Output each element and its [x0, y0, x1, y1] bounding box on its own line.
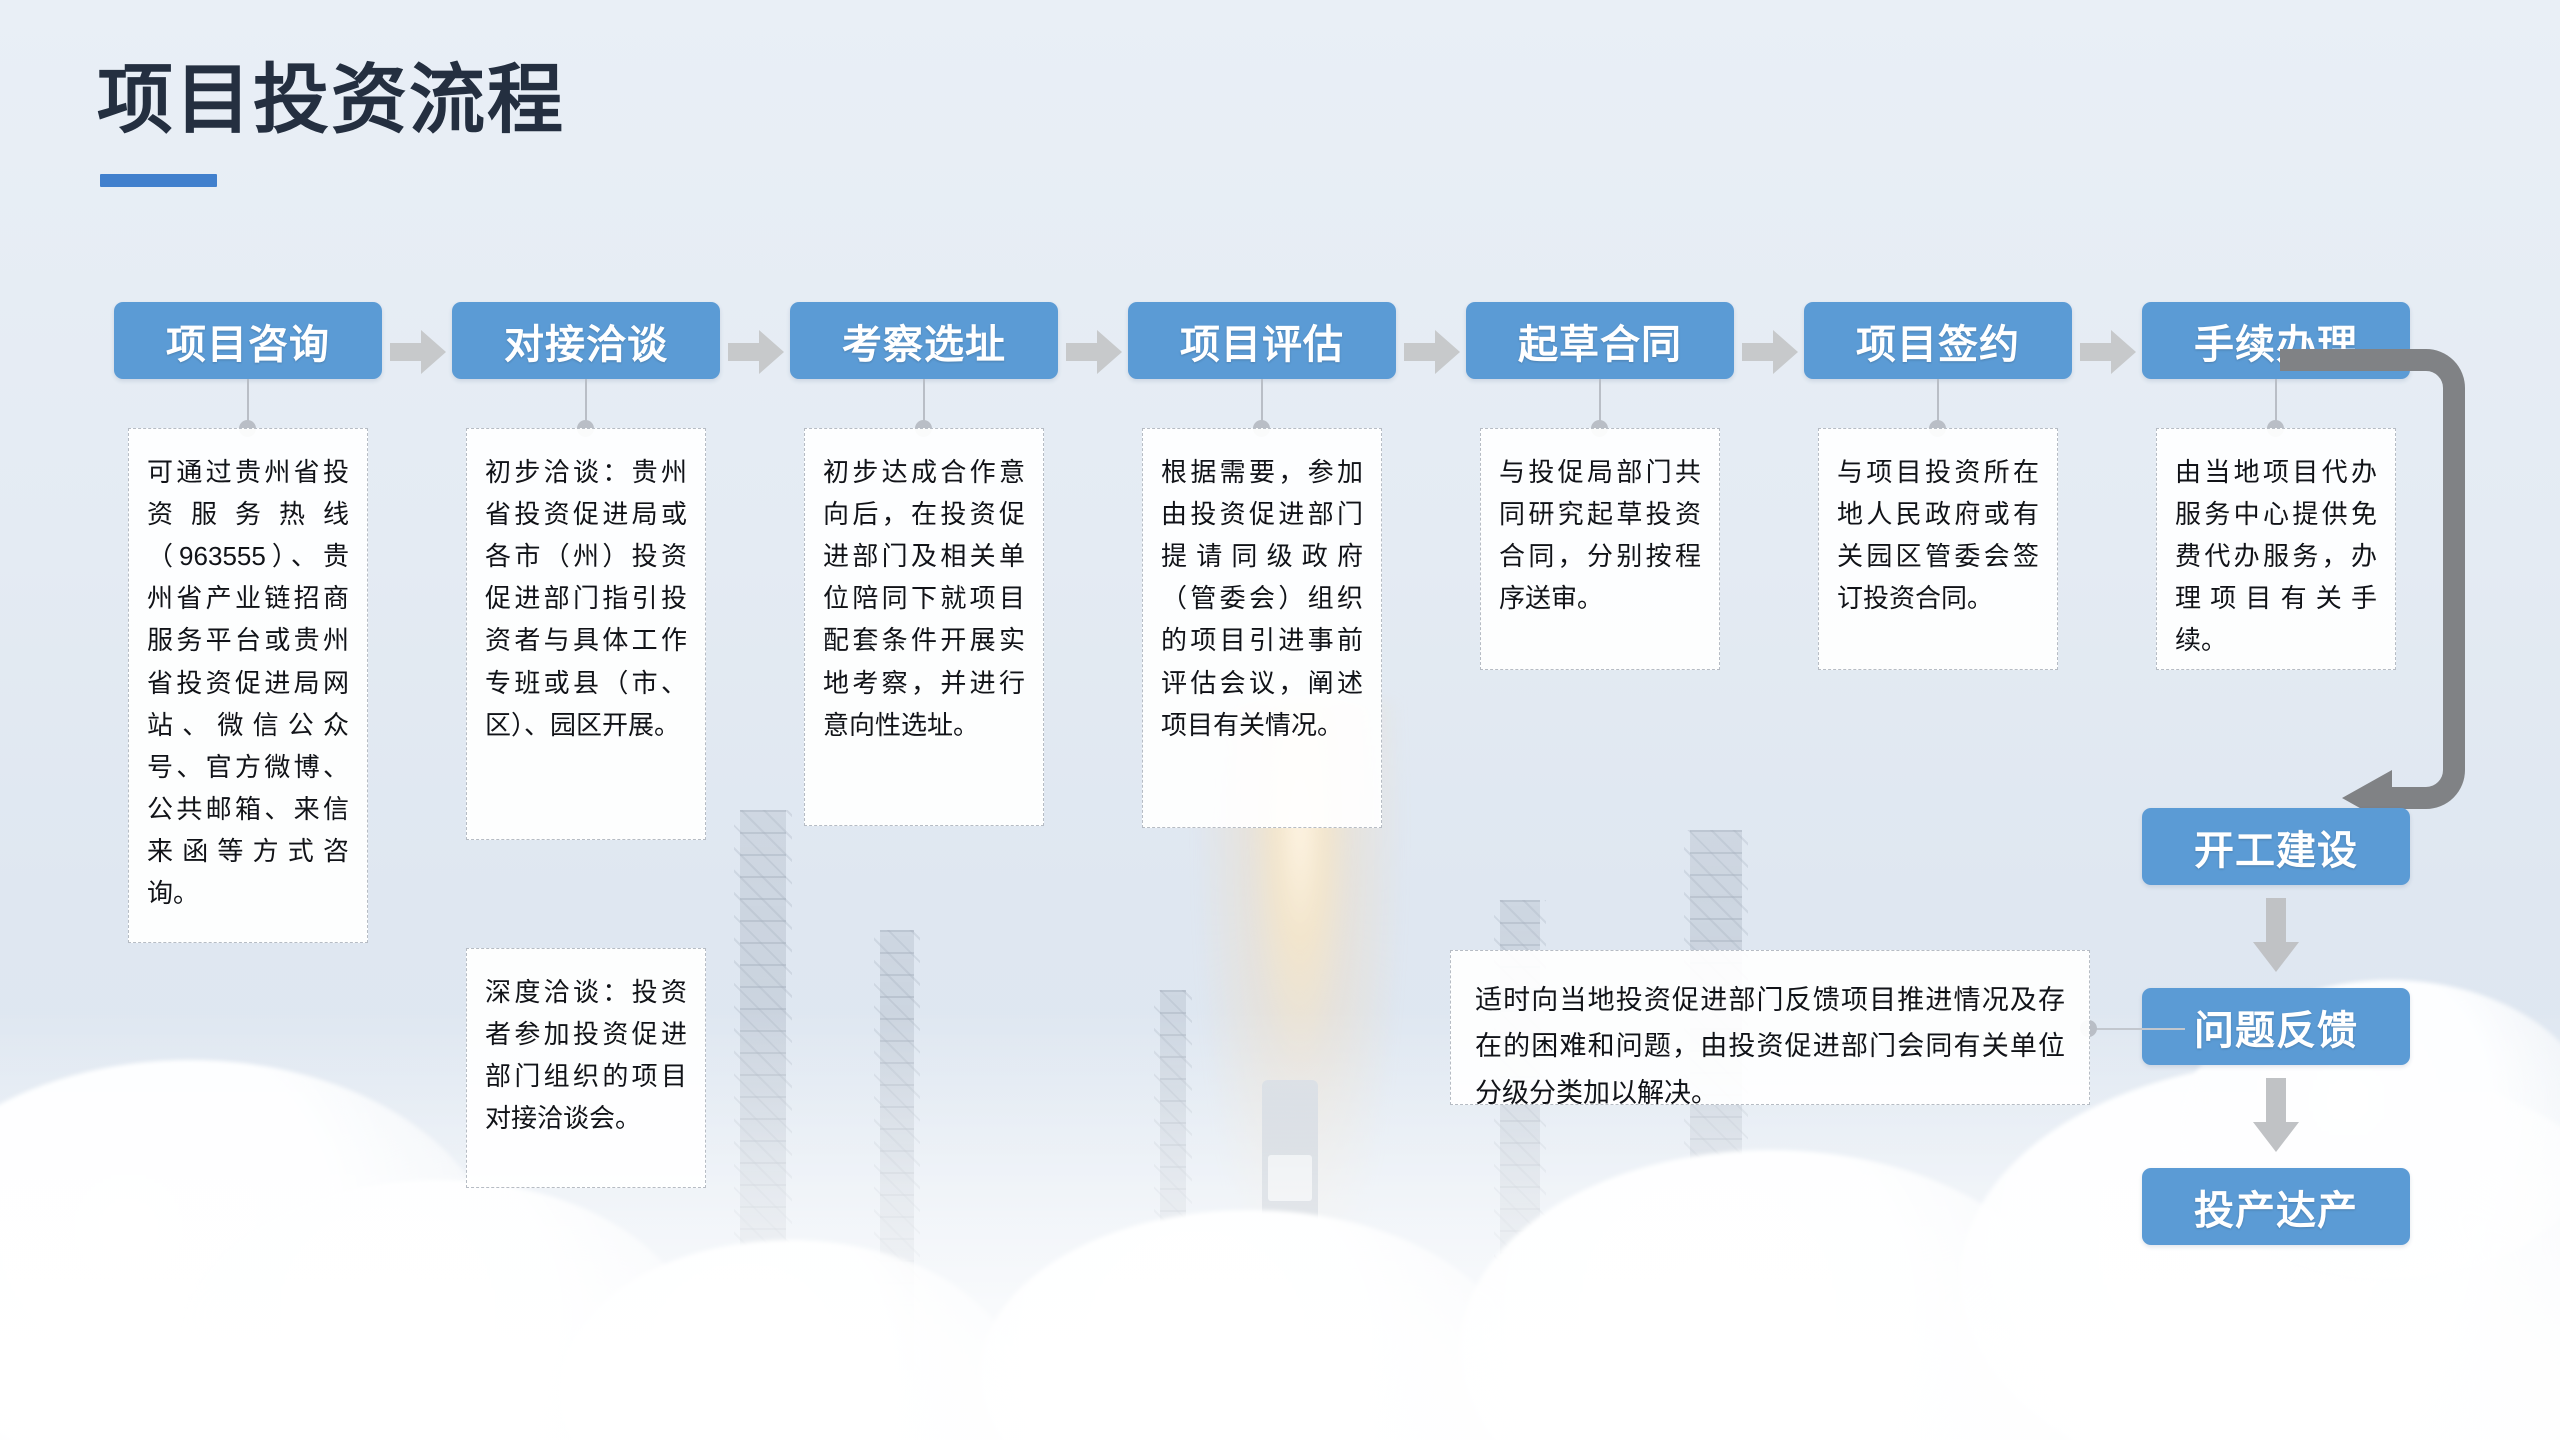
stage-feedback[interactable]: 问题反馈 — [2142, 988, 2410, 1065]
stage-production[interactable]: 投产达产 — [2142, 1168, 2410, 1245]
stage-match[interactable]: 对接洽谈 — [452, 302, 720, 379]
down-arrow-icon — [2253, 898, 2299, 972]
right-arrow-icon — [2080, 330, 2136, 374]
right-arrow-icon — [1066, 330, 1122, 374]
card-match-2: 深度洽谈：投资者参加投资促进部门组织的项目对接洽谈会。 — [466, 948, 706, 1188]
card-signing: 与项目投资所在地人民政府或有关园区管委会签订投资合同。 — [1818, 428, 2058, 670]
right-arrow-icon — [390, 330, 446, 374]
card-feedback: 适时向当地投资促进部门反馈项目推进情况及存在的困难和问题，由投资促进部门会同有关… — [1450, 950, 2090, 1105]
card-survey: 初步达成合作意向后，在投资促进部门及相关单位陪同下就项目配套条件开展实地考察，并… — [804, 428, 1044, 826]
elbow-arrow-icon — [2280, 300, 2530, 860]
right-arrow-icon — [1404, 330, 1460, 374]
right-arrow-icon — [1742, 330, 1798, 374]
down-arrow-icon — [2253, 1078, 2299, 1152]
card-consult: 可通过贵州省投资服务热线（963555）、贵州省产业链招商服务平台或贵州省投资促… — [128, 428, 368, 943]
stage-consult[interactable]: 项目咨询 — [114, 302, 382, 379]
right-arrow-icon — [728, 330, 784, 374]
card-contract: 与投促局部门共同研究起草投资合同，分别按程序送审。 — [1480, 428, 1720, 670]
stage-appraise[interactable]: 项目评估 — [1128, 302, 1396, 379]
stage-signing[interactable]: 项目签约 — [1804, 302, 2072, 379]
card-appraise: 根据需要，参加由投资促进部门提请同级政府（管委会）组织的项目引进事前评估会议，阐… — [1142, 428, 1382, 828]
stage-survey[interactable]: 考察选址 — [790, 302, 1058, 379]
stage-construction[interactable]: 开工建设 — [2142, 808, 2410, 885]
card-match-1: 初步洽谈：贵州省投资促进局或各市（州）投资促进部门指引投资者与具体工作专班或县（… — [466, 428, 706, 840]
title-underline-rule — [100, 174, 217, 187]
connector-stem — [2095, 1028, 2185, 1030]
stage-contract[interactable]: 起草合同 — [1466, 302, 1734, 379]
page-title: 项目投资流程 — [97, 38, 565, 148]
